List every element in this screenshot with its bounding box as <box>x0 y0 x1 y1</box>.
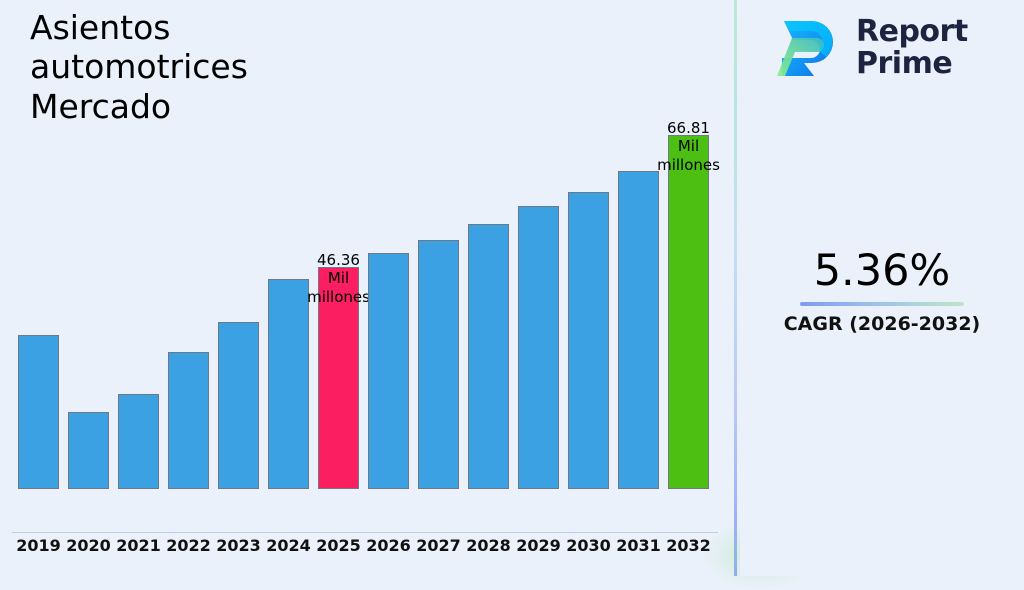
brand-name: Report Prime <box>856 16 968 80</box>
bar-2027 <box>418 240 459 489</box>
bar-2031 <box>618 171 659 489</box>
x-tick-2025: 2025 <box>311 536 367 555</box>
x-tick-2032: 2032 <box>661 536 717 555</box>
x-tick-2019: 2019 <box>11 536 67 555</box>
x-tick-2027: 2027 <box>411 536 467 555</box>
bar-2021 <box>118 394 159 489</box>
bar-chart-plot: 46.36 Mil millones66.81 Mil millones 201… <box>0 0 735 576</box>
bar-series: 46.36 Mil millones66.81 Mil millones <box>0 0 735 533</box>
bar-2028 <box>468 224 509 489</box>
x-tick-2021: 2021 <box>111 536 167 555</box>
x-tick-2024: 2024 <box>261 536 317 555</box>
bar-2022 <box>168 352 209 489</box>
bar-2026 <box>368 253 409 489</box>
brand-logo[interactable]: Report Prime <box>768 12 968 84</box>
bar-2029 <box>518 206 559 489</box>
cagr-divider <box>800 302 964 306</box>
x-tick-2030: 2030 <box>561 536 617 555</box>
cagr-value: 5.36% <box>740 250 1024 293</box>
bar-2032 <box>668 135 709 489</box>
x-tick-2031: 2031 <box>611 536 667 555</box>
x-tick-2022: 2022 <box>161 536 217 555</box>
bar-2020 <box>68 412 109 489</box>
chart-infographic: Asientos automotrices Mercado 46.36 Mil … <box>0 0 1024 576</box>
bar-2030 <box>568 192 609 489</box>
chart-panel: Asientos automotrices Mercado 46.36 Mil … <box>0 0 735 576</box>
x-tick-2020: 2020 <box>61 536 117 555</box>
x-axis-tick-labels: 2019202020212022202320242025202620272028… <box>0 536 735 566</box>
cagr-caption: CAGR (2026-2032) <box>740 313 1024 336</box>
cagr-block: 5.36% CAGR (2026-2032) <box>740 250 1024 336</box>
bar-2024 <box>268 279 309 489</box>
x-tick-2028: 2028 <box>461 536 517 555</box>
bar-value-label-2032: 66.81 Mil millones <box>634 119 744 174</box>
x-tick-2029: 2029 <box>511 536 567 555</box>
panel-divider <box>734 0 737 576</box>
bar-2023 <box>218 322 259 489</box>
bar-2019 <box>18 335 59 489</box>
x-tick-2026: 2026 <box>361 536 417 555</box>
x-tick-2023: 2023 <box>211 536 267 555</box>
report-prime-logo-icon <box>768 12 842 84</box>
summary-panel: Report Prime 5.36% CAGR (2026-2032) <box>740 0 1024 576</box>
